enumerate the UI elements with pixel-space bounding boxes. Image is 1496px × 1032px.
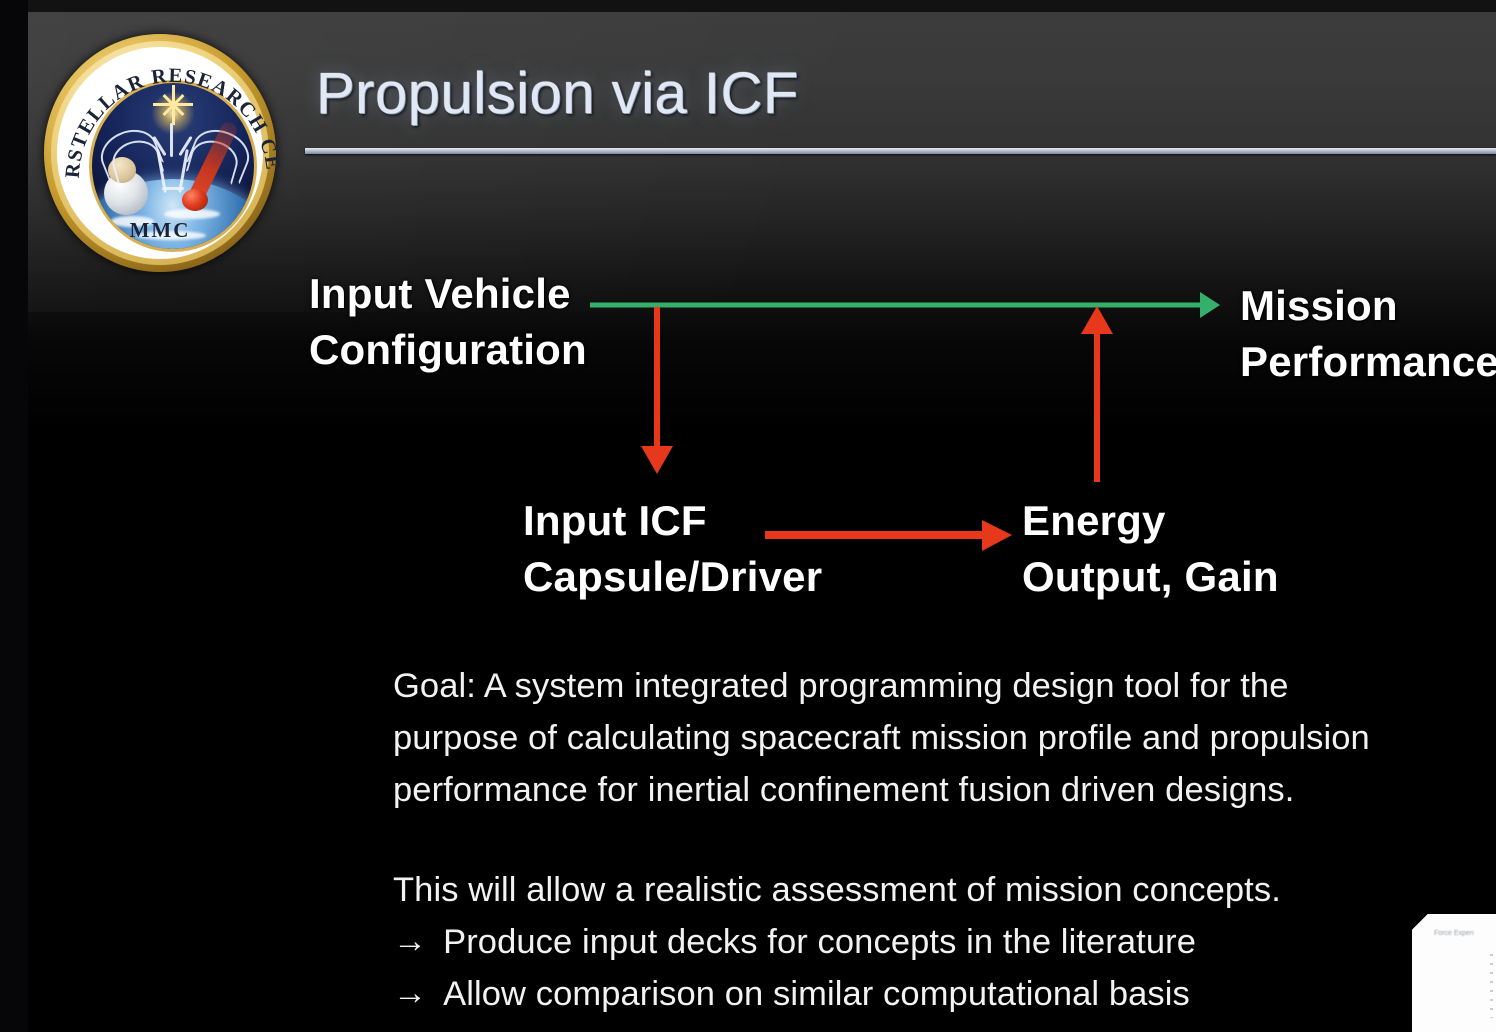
goal-paragraph: Goal: A system integrated programming de… [393,660,1433,816]
arrow-vehicle-to-mission [590,292,1220,318]
slide-title: Propulsion via ICF [316,60,799,127]
seal-outer-gold-ring: INTERSTELLAR RESEARCH CENTRE MMC [44,34,276,272]
slide-body-text: Goal: A system integrated programming de… [393,660,1433,1021]
arrow-right-icon: → [393,968,427,1020]
arrow-vehicle-to-capsule [641,307,673,474]
assessment-line: This will allow a realistic assessment o… [393,864,1433,916]
interstellar-research-centre-logo: INTERSTELLAR RESEARCH CENTRE MMC [44,26,282,282]
arrow-right-icon: → [393,916,427,968]
diagram-node-input-vehicle-configuration: Input Vehicle Configuration [309,266,587,379]
capture-letterbox-top [0,0,1496,12]
presentation-slide: INTERSTELLAR RESEARCH CENTRE MMC Propuls… [28,12,1496,1032]
assessment-block: This will allow a realistic assessment o… [393,864,1433,1020]
capture-letterbox-left [0,0,28,1032]
scrollbar[interactable] [1490,954,1493,1018]
background-window-title: Force Experi [1434,930,1474,937]
list-item-label: Allow comparison on similar computationa… [443,968,1190,1020]
goal-line: performance for inertial confinement fus… [393,764,1433,816]
diagram-node-energy-output-gain: Energy Output, Gain [1022,493,1279,606]
background-window-panel[interactable]: Force Experi [1412,914,1496,1032]
screen-capture: INTERSTELLAR RESEARCH CENTRE MMC Propuls… [0,0,1496,1032]
window-corner-fold [1412,914,1428,930]
title-divider [305,148,1496,154]
diagram-node-input-icf-capsule-driver: Input ICF Capsule/Driver [523,493,822,606]
goal-line: purpose of calculating spacecraft missio… [393,712,1433,764]
list-item: → Produce input decks for concepts in th… [393,916,1433,968]
list-item-label: Produce input decks for concepts in the … [443,916,1196,968]
seal-bottom-text: MMC [57,218,263,243]
goal-line: Goal: A system integrated programming de… [393,660,1433,712]
arrow-energy-to-mission [1081,306,1113,482]
diagram-node-mission-performance: Mission Performance [1240,278,1496,391]
list-item: → Allow comparison on similar computatio… [393,968,1433,1020]
seal-white-band: INTERSTELLAR RESEARCH CENTRE MMC [57,47,263,259]
